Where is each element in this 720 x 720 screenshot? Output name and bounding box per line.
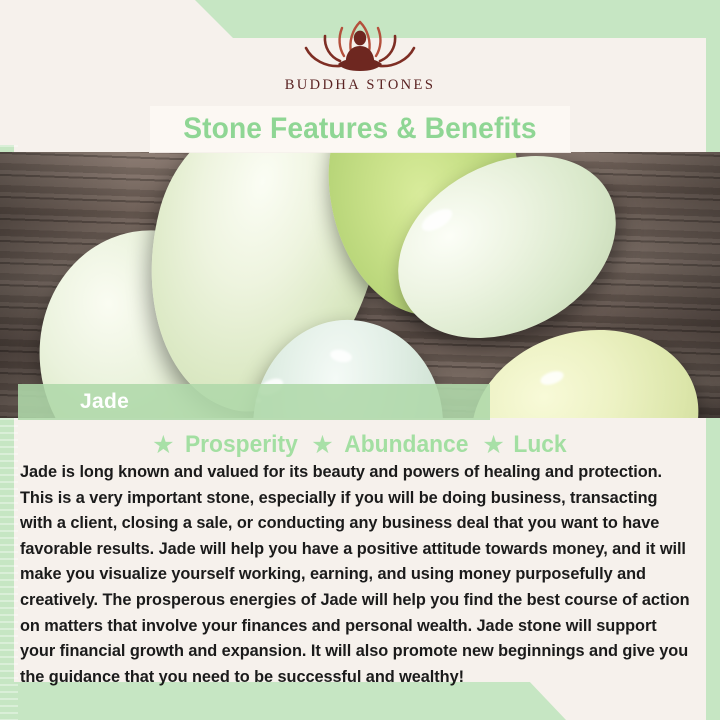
brand-header: BUDDHA STONES (0, 14, 720, 106)
description-text: Jade is long known and valued for its be… (20, 460, 693, 690)
benefit-item-abundance: ★ Abundance (311, 431, 471, 459)
stone-name-label: Jade (80, 390, 129, 414)
page-title: Stone Features & Benefits (183, 112, 536, 146)
title-banner: Stone Features & Benefits (150, 106, 570, 152)
lotus-meditation-icon (294, 14, 426, 76)
star-icon: ★ (152, 433, 174, 458)
benefit-label: Abundance (344, 431, 468, 459)
stone-name-bar: Jade (18, 384, 490, 420)
description-block: Jade is long known and valued for its be… (14, 460, 706, 696)
benefit-item-prosperity: ★ Prosperity (152, 431, 300, 459)
stone-info-card: BUDDHA STONES Stone Features & Benefits … (0, 0, 720, 720)
benefit-item-luck: ★ Luck (482, 431, 567, 459)
benefits-row: ★ Prosperity ★ Abundance ★ Luck (0, 428, 720, 462)
benefit-label: Prosperity (185, 431, 298, 459)
stone-photo (0, 152, 720, 418)
star-icon: ★ (482, 433, 504, 458)
brand-name: BUDDHA STONES (285, 77, 436, 94)
star-icon: ★ (311, 433, 333, 458)
benefit-label: Luck (513, 431, 566, 459)
